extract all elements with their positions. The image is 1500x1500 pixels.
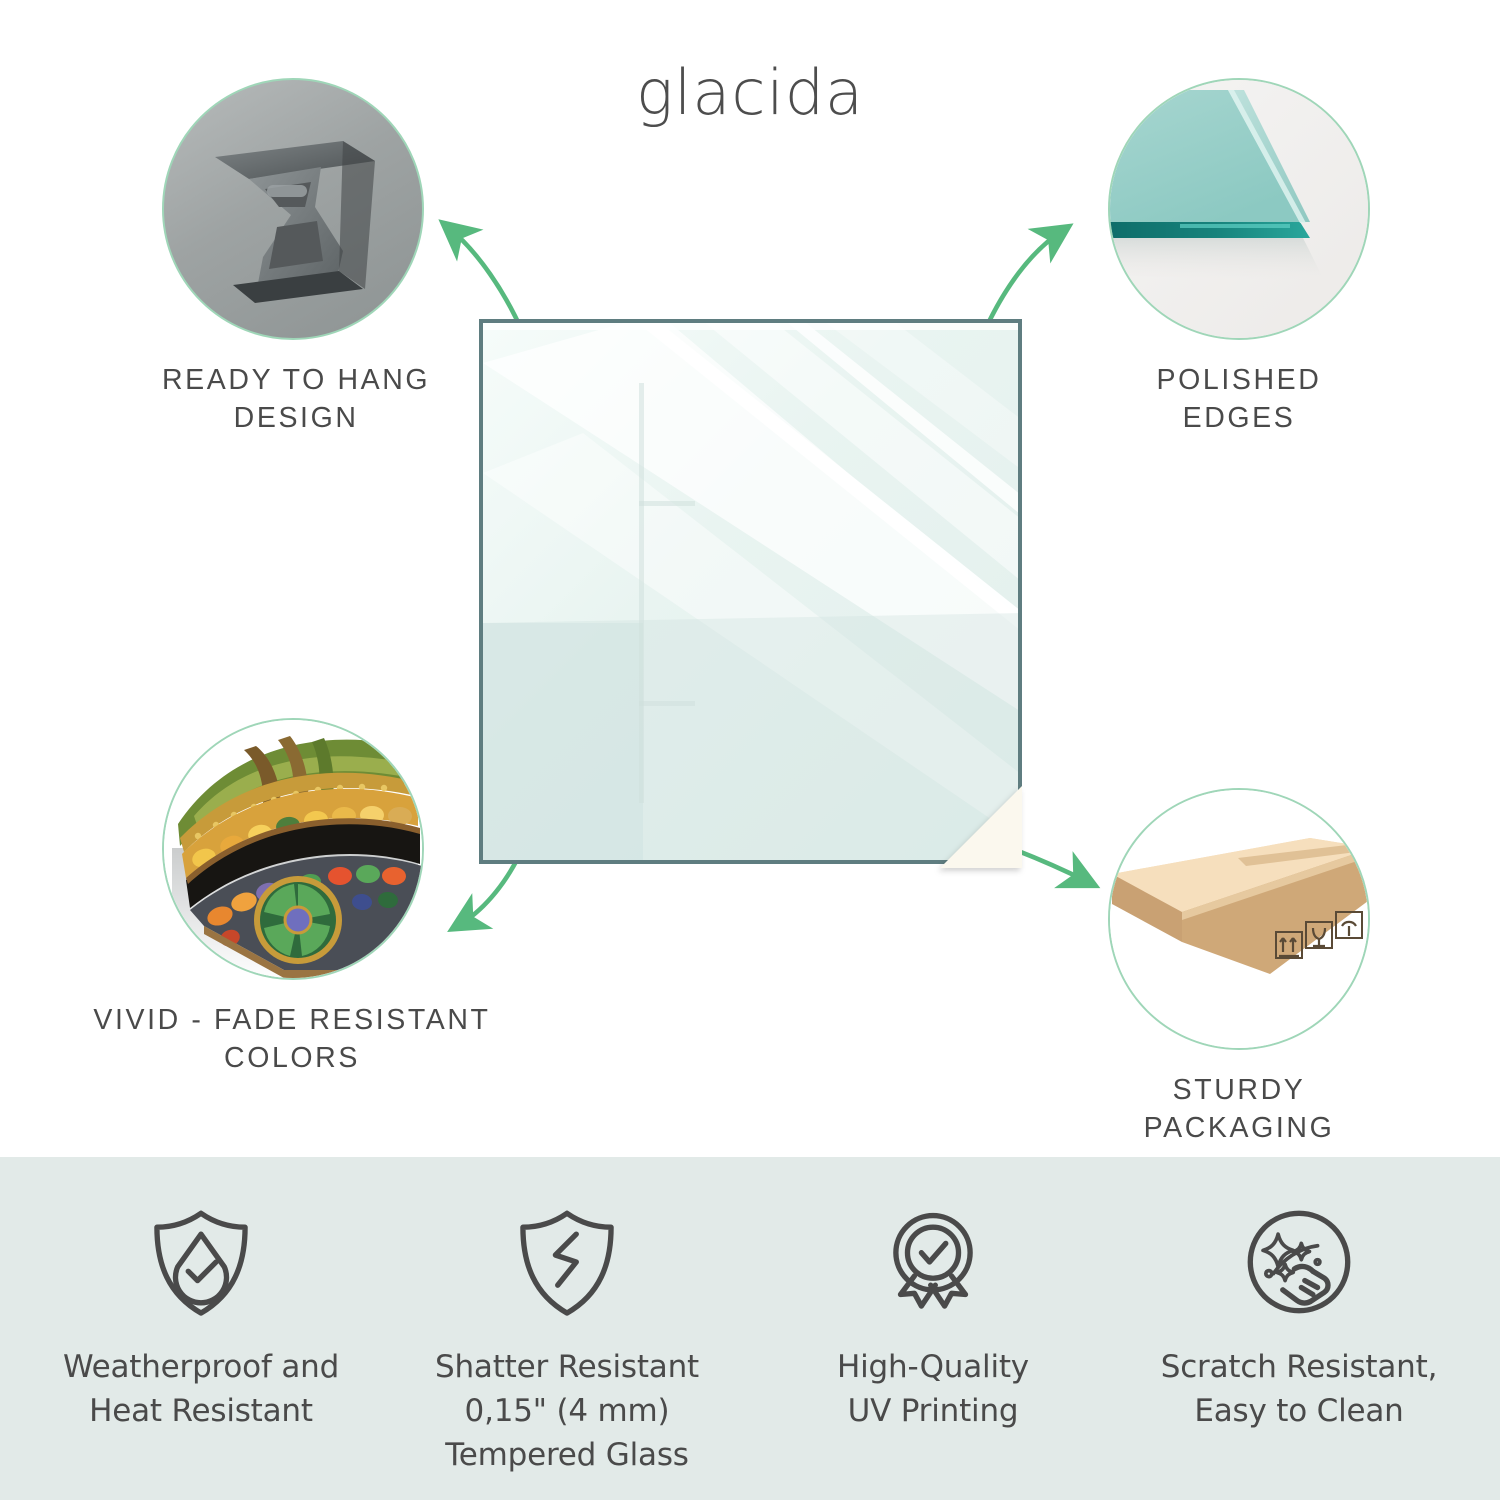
shield-lightning-bolt-icon bbox=[509, 1203, 625, 1321]
sturdy-packaging-label: STURDY PACKAGING bbox=[1108, 1072, 1370, 1148]
benefit-shatter-resistant-label: Shatter Resistant 0,15" (4 mm) Tempered … bbox=[435, 1345, 699, 1477]
hanging-bracket-icon bbox=[193, 109, 393, 309]
glass-edge-icon bbox=[1110, 80, 1370, 340]
vivid-colors-label: VIVID - FADE RESISTANT COLORS bbox=[32, 1002, 552, 1078]
arrow-to-ready-to-hang bbox=[449, 228, 523, 333]
polished-edges-image bbox=[1108, 78, 1370, 340]
benefit-scratch-resistant: Scratch Resistant, Easy to Clean bbox=[1116, 1203, 1482, 1500]
sturdy-packaging-image bbox=[1108, 788, 1370, 1050]
arrow-to-polished-edges bbox=[985, 231, 1062, 330]
feature-vivid-colors: VIVID - FADE RESISTANT COLORS bbox=[162, 718, 552, 1078]
sparkle-cleaning-hand-icon bbox=[1241, 1203, 1357, 1321]
benefit-uv-printing: High-Quality UV Printing bbox=[750, 1203, 1116, 1500]
cardboard-box-icon bbox=[1110, 790, 1370, 1050]
glass-reflections bbox=[483, 323, 1022, 864]
glass-panel-product bbox=[479, 319, 1022, 864]
ready-to-hang-image bbox=[162, 78, 424, 340]
award-ribbon-check-icon bbox=[875, 1203, 991, 1321]
feature-polished-edges: POLISHED EDGES bbox=[1108, 78, 1370, 438]
polished-edges-label: POLISHED EDGES bbox=[1108, 362, 1370, 438]
vivid-colors-image bbox=[162, 718, 424, 980]
feature-ready-to-hang: READY TO HANG DESIGN bbox=[162, 78, 430, 438]
stained-glass-artwork-icon bbox=[164, 720, 424, 980]
ready-to-hang-label: READY TO HANG DESIGN bbox=[162, 362, 430, 438]
benefits-band: Weatherproof and Heat Resistant Shatter … bbox=[0, 1157, 1500, 1500]
glass-corner-curl bbox=[940, 786, 1022, 868]
feature-sturdy-packaging: STURDY PACKAGING bbox=[1108, 788, 1370, 1148]
shield-water-drop-check-icon bbox=[143, 1203, 259, 1321]
benefits-row: Weatherproof and Heat Resistant Shatter … bbox=[0, 1157, 1500, 1500]
benefit-uv-printing-label: High-Quality UV Printing bbox=[837, 1345, 1029, 1433]
benefit-shatter-resistant: Shatter Resistant 0,15" (4 mm) Tempered … bbox=[384, 1203, 750, 1500]
benefit-weatherproof: Weatherproof and Heat Resistant bbox=[18, 1203, 384, 1500]
benefit-scratch-resistant-label: Scratch Resistant, Easy to Clean bbox=[1161, 1345, 1438, 1433]
benefit-weatherproof-label: Weatherproof and Heat Resistant bbox=[63, 1345, 339, 1433]
